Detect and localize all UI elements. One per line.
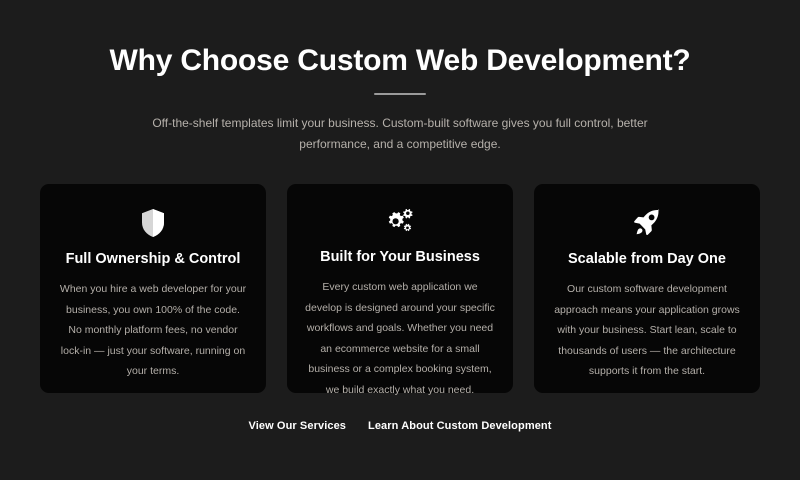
feature-card-title: Full Ownership & Control: [66, 250, 241, 269]
feature-card-body: When you hire a web developer for your b…: [58, 279, 248, 381]
rocket-icon: [632, 208, 662, 238]
page-title: Why Choose Custom Web Development?: [0, 44, 800, 79]
shield-icon: [140, 208, 166, 238]
feature-card-body: Every custom web application we develop …: [305, 277, 495, 400]
why-choose-section: Why Choose Custom Web Development? Off-t…: [0, 0, 800, 480]
view-our-services-link[interactable]: View Our Services: [249, 420, 347, 432]
feature-card-list: Full Ownership & Control When you hire a…: [40, 184, 760, 393]
section-subtitle: Off-the-shelf templates limit your busin…: [120, 113, 680, 155]
gears-icon: [384, 208, 416, 236]
feature-card-body: Our custom software development approach…: [552, 279, 742, 381]
title-divider: [374, 93, 426, 95]
feature-card-title: Scalable from Day One: [568, 250, 726, 269]
cta-link-group: View Our Services Learn About Custom Dev…: [0, 420, 800, 432]
section-header: Why Choose Custom Web Development? Off-t…: [0, 0, 800, 155]
feature-card: Scalable from Day One Our custom softwar…: [534, 184, 760, 393]
learn-about-custom-development-link[interactable]: Learn About Custom Development: [368, 420, 552, 432]
feature-card: Full Ownership & Control When you hire a…: [40, 184, 266, 393]
feature-card-title: Built for Your Business: [320, 248, 480, 267]
feature-card: Built for Your Business Every custom web…: [287, 184, 513, 393]
